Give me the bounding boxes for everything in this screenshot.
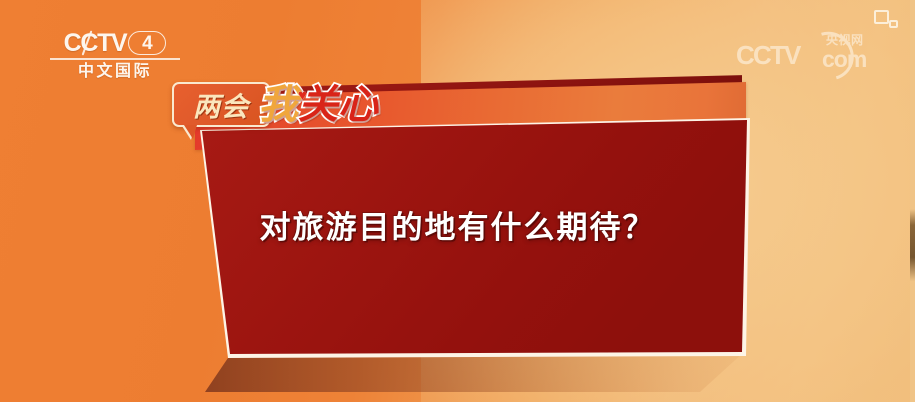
picture-in-picture-icon[interactable]	[874, 10, 898, 29]
channel-number-badge: 4	[128, 31, 166, 55]
channel-number: 4	[142, 34, 153, 53]
title-badge-tail	[184, 125, 197, 139]
heart-icon: ♥	[298, 90, 309, 101]
program-title-main: 我关心	[258, 79, 378, 131]
channel-logo: CCTV 4 中文国际	[50, 30, 180, 80]
right-edge-artifact	[910, 0, 915, 402]
broadcast-frame: 两会 我关心 ♥ 对旅游目的地有什么期待？ CCTV 4 中文国际 CCTV 央…	[0, 0, 915, 402]
watermark-domain: com	[822, 48, 866, 71]
channel-subtitle: 中文国际	[50, 61, 180, 80]
watermark-chinese: 央视网	[826, 34, 864, 46]
program-title-part-b: 关心	[298, 82, 378, 128]
watermark-wordmark: CCTV	[736, 42, 800, 68]
title-badge-text: 两会	[172, 82, 270, 127]
channel-logo-rule	[50, 58, 180, 60]
pip-icon-outer-frame	[874, 10, 889, 24]
channel-wordmark: CCTV	[64, 30, 127, 56]
channel-logo-row: CCTV 4	[50, 30, 180, 56]
pip-icon-inner-frame	[889, 20, 898, 28]
program-title-lockup: 两会 我关心 ♥	[172, 82, 402, 140]
cctv-com-watermark: CCTV 央视网 com	[736, 38, 896, 72]
program-title-part-a: 我	[258, 82, 298, 128]
question-text: 对旅游目的地有什么期待？	[0, 206, 915, 250]
